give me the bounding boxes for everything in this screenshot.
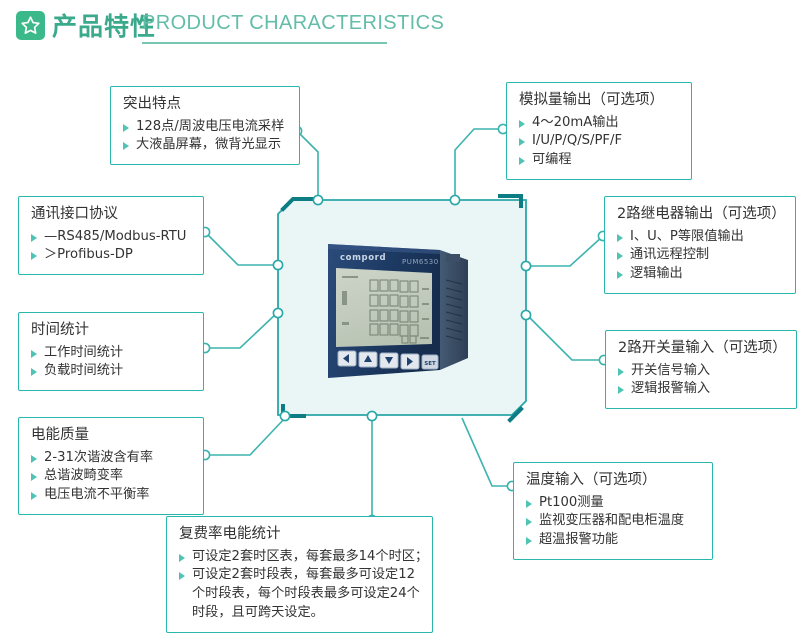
callout-item: 开关信号输入 xyxy=(618,362,784,381)
callout-items: Pt100测量 监视变压器和配电柜温度 超温报警功能 xyxy=(526,494,700,550)
callout-item: 128点/周波电压电流采样 xyxy=(123,118,287,137)
page-title-en: PRODUCT CHARACTERISTICS xyxy=(142,12,444,35)
svg-text:PUM6530: PUM6530 xyxy=(402,258,439,266)
callout-items: 4～20mA输出 I/U/P/Q/S/PF/F 可编程 xyxy=(519,114,679,170)
star-icon xyxy=(16,11,45,40)
callout-power-quality[interactable]: 电能质量 2-31次谐波含有率 总谐波畸变率 电压电流不平衡率 xyxy=(18,417,204,515)
callout-item: 工作时间统计 xyxy=(31,344,191,363)
callout-title: 温度输入（可选项） xyxy=(526,471,700,491)
callout-item: 监视变压器和配电柜温度 xyxy=(526,512,700,531)
callout-item: 通讯远程控制 xyxy=(617,246,783,265)
page-title-cn: 产品特性 xyxy=(52,7,156,43)
callout-item: 逻辑输出 xyxy=(617,265,783,284)
header-underline xyxy=(142,42,387,44)
callout-communication-protocol[interactable]: 通讯接口协议 —RS485/Modbus-RTU ＞Profibus-DP xyxy=(18,196,204,275)
callout-item: 可编程 xyxy=(519,151,679,170)
callout-title: 2路继电器输出（可选项） xyxy=(617,205,783,225)
callout-item: 2-31次谐波含有率 xyxy=(31,449,191,468)
callout-item: 总谐波畸变率 xyxy=(31,467,191,486)
callout-title: 突出特点 xyxy=(123,95,287,115)
callout-switch-input[interactable]: 2路开关量输入（可选项） 开关信号输入 逻辑报警输入 xyxy=(605,330,797,409)
callout-item: 负载时间统计 xyxy=(31,362,191,381)
callout-items: —RS485/Modbus-RTU ＞Profibus-DP xyxy=(31,228,191,265)
callout-analog-output[interactable]: 模拟量输出（可选项） 4～20mA输出 I/U/P/Q/S/PF/F 可编程 xyxy=(506,82,692,180)
callout-item: 大液晶屏幕，微背光显示 xyxy=(123,136,287,155)
callout-item: —RS485/Modbus-RTU xyxy=(31,228,191,247)
page-header: 产品特性 PRODUCT CHARACTERISTICS xyxy=(0,0,800,56)
callout-relay-output[interactable]: 2路继电器输出（可选项） I、U、P等限值输出 通讯远程控制 逻辑输出 xyxy=(604,196,796,294)
callout-title: 模拟量输出（可选项） xyxy=(519,91,679,111)
callout-time-statistics[interactable]: 时间统计 工作时间统计 负载时间统计 xyxy=(18,312,204,391)
callout-item: 可设定2套时区表，每套最多14个时区； xyxy=(179,548,420,567)
callout-items: 128点/周波电压电流采样 大液晶屏幕，微背光显示 xyxy=(123,118,287,155)
callout-title: 2路开关量输入（可选项） xyxy=(618,339,784,359)
svg-text:compord: compord xyxy=(340,253,386,263)
callout-temperature-input[interactable]: 温度输入（可选项） Pt100测量 监视变压器和配电柜温度 超温报警功能 xyxy=(513,462,713,560)
callout-item: I、U、P等限值输出 xyxy=(617,228,783,247)
callout-item: 超温报警功能 xyxy=(526,531,700,550)
callout-item: Pt100测量 xyxy=(526,494,700,513)
callout-title: 通讯接口协议 xyxy=(31,205,191,225)
callout-items: 开关信号输入 逻辑报警输入 xyxy=(618,362,784,399)
product-device-image: compord PUM6530 xyxy=(322,236,492,388)
callout-item: I/U/P/Q/S/PF/F xyxy=(519,132,679,151)
callout-items: 可设定2套时区表，每套最多14个时区； 可设定2套时段表，每套最多可设定12个时… xyxy=(179,548,420,623)
callout-multi-tariff-energy[interactable]: 复费率电能统计 可设定2套时区表，每套最多14个时区； 可设定2套时段表，每套最… xyxy=(166,516,433,633)
callout-item: 电压电流不平衡率 xyxy=(31,486,191,505)
callout-title: 复费率电能统计 xyxy=(179,525,420,545)
callout-title: 电能质量 xyxy=(31,426,191,446)
callout-items: 2-31次谐波含有率 总谐波畸变率 电压电流不平衡率 xyxy=(31,449,191,505)
callout-item: 逻辑报警输入 xyxy=(618,380,784,399)
callout-item: 可设定2套时段表，每套最多可设定12个时段表，每个时段表最多可设定24个时段，且… xyxy=(179,566,420,622)
svg-text:SET: SET xyxy=(424,361,436,367)
callout-title: 时间统计 xyxy=(31,321,191,341)
callout-highlight-features[interactable]: 突出特点 128点/周波电压电流采样 大液晶屏幕，微背光显示 xyxy=(110,86,300,165)
callout-items: I、U、P等限值输出 通讯远程控制 逻辑输出 xyxy=(617,228,783,284)
callout-items: 工作时间统计 负载时间统计 xyxy=(31,344,191,381)
callout-item: 4～20mA输出 xyxy=(519,114,679,133)
callout-item: ＞Profibus-DP xyxy=(31,246,191,265)
